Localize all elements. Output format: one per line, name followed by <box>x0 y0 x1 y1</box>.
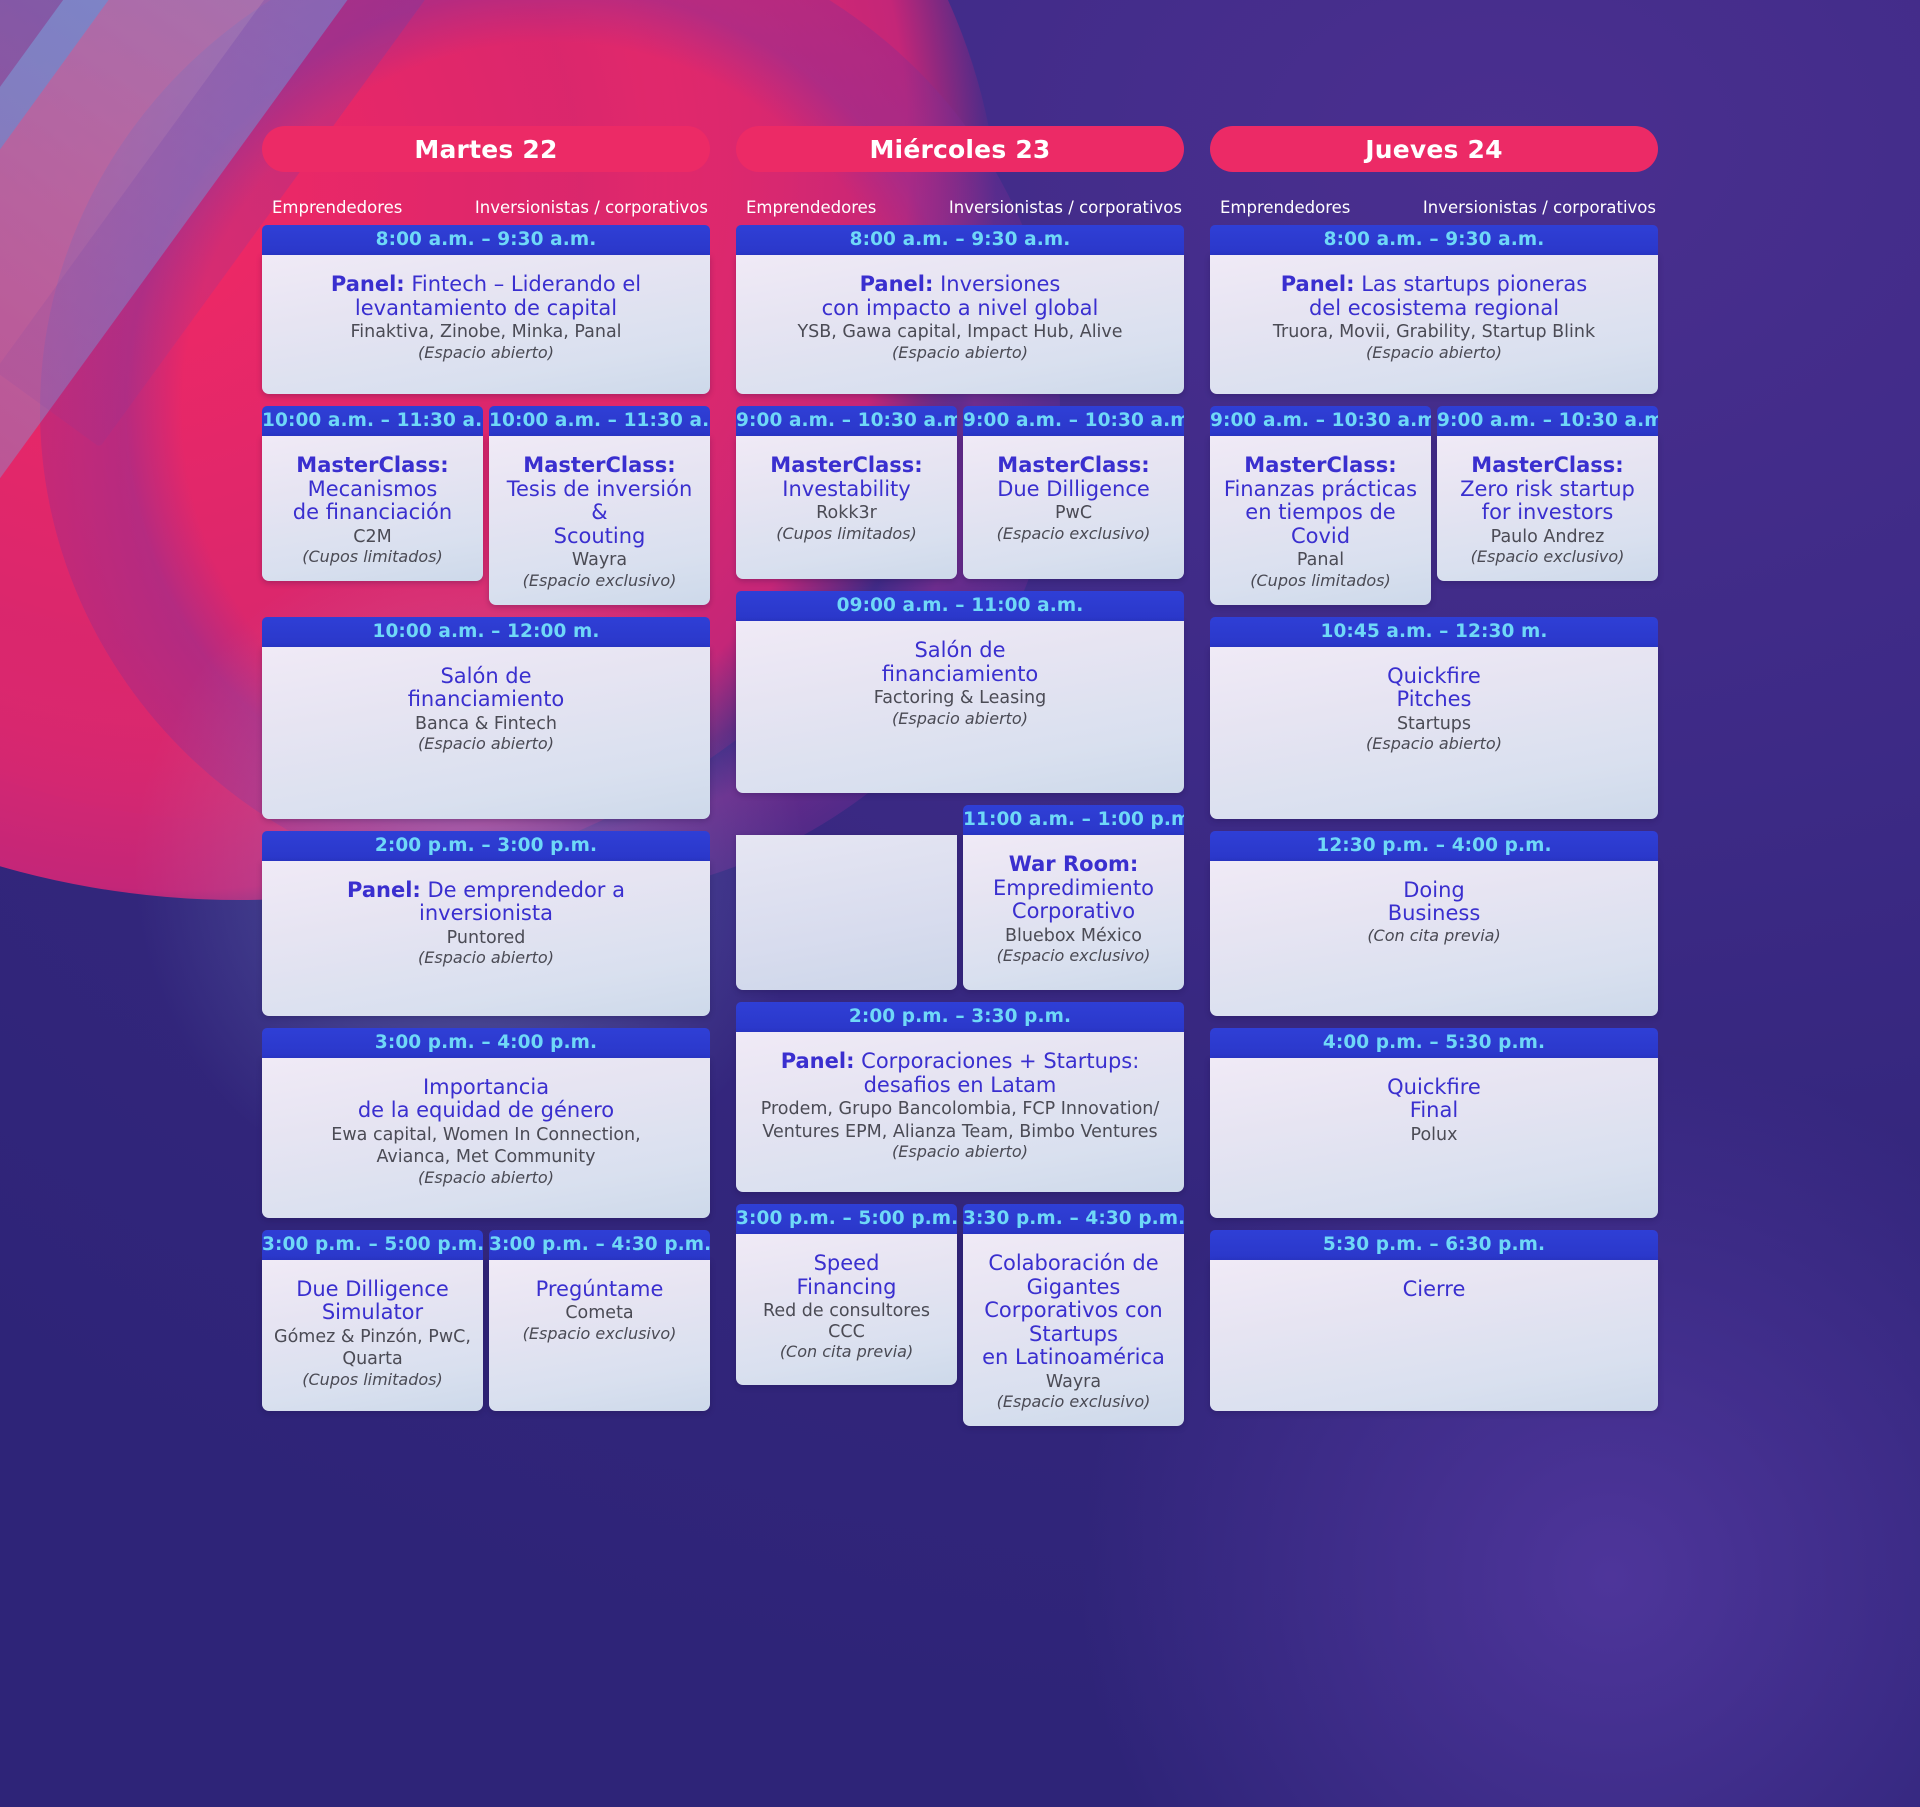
session-card[interactable]: Due DilligenceSimulatorGómez & Pinzón, P… <box>262 1260 483 1411</box>
session-access-note: (Espacio exclusivo) <box>975 1393 1172 1412</box>
day-column-3: Jueves 24EmprendedoresInversionistas / c… <box>1210 126 1658 1438</box>
session-speakers: Finaktiva, Zinobe, Minka, Panal <box>274 322 698 343</box>
time-label: 8:00 a.m. – 9:30 a.m. <box>736 225 1184 255</box>
session-access-note: (Cupos limitados) <box>748 525 945 544</box>
session-title: Cierre <box>1222 1278 1646 1302</box>
schedule-entry[interactable] <box>736 805 957 990</box>
session-access-note: (Cupos limitados) <box>274 1371 471 1390</box>
session-card[interactable]: Panel: Corporaciones + Startups:desafios… <box>736 1032 1184 1192</box>
session-title: MasterClass:Mecanismosde financiación <box>274 454 471 525</box>
session-speakers: Prodem, Grupo Bancolombia, FCP Innovatio… <box>748 1099 1172 1120</box>
schedule-entry[interactable]: 8:00 a.m. – 9:30 a.m.Panel: Inversionesc… <box>736 225 1184 394</box>
audience-label-entrepreneurs: Emprendedores <box>1212 198 1419 217</box>
schedule-entry[interactable]: 10:00 a.m. – 11:30 a.m.MasterClass:Mecan… <box>262 406 483 605</box>
session-access-note: (Con cita previa) <box>1222 927 1646 946</box>
session-speakers: Ewa capital, Women In Connection, <box>274 1125 698 1146</box>
session-title: MasterClass:Investability <box>748 454 945 501</box>
session-card[interactable]: MasterClass:Due DilligencePwC(Espacio ex… <box>963 436 1184 579</box>
time-label: 9:00 a.m. – 10:30 a.m. <box>1437 406 1658 436</box>
session-card[interactable]: SpeedFinancingRed de consultores CCC(Con… <box>736 1234 957 1385</box>
time-label: 9:00 a.m. – 10:30 a.m. <box>1210 406 1431 436</box>
time-label: 10:00 a.m. – 11:30 a.m. <box>262 406 483 436</box>
session-speakers: Bluebox México <box>975 926 1172 947</box>
session-title: MasterClass:Zero risk startupfor investo… <box>1449 454 1646 525</box>
session-card[interactable]: Panel: Fintech – Liderando ellevantamien… <box>262 255 710 394</box>
session-card[interactable]: Panel: Las startups pionerasdel ecosiste… <box>1210 255 1658 394</box>
schedule-entry[interactable]: 11:00 a.m. – 1:00 p.m.War Room:Empredimi… <box>963 805 1184 990</box>
session-card[interactable]: DoingBusiness(Con cita previa) <box>1210 861 1658 1016</box>
session-access-note: (Espacio abierto) <box>274 1169 698 1188</box>
time-label: 2:00 p.m. – 3:00 p.m. <box>262 831 710 861</box>
schedule-slot: 11:00 a.m. – 1:00 p.m.War Room:Empredimi… <box>736 805 1184 990</box>
session-speakers: YSB, Gawa capital, Impact Hub, Alive <box>748 322 1172 343</box>
schedule-entry[interactable]: 3:00 p.m. – 5:00 p.m.Due DilligenceSimul… <box>262 1230 483 1411</box>
time-label: 10:00 a.m. – 11:30 a.m. <box>489 406 710 436</box>
day-column-1: Martes 22EmprendedoresInversionistas / c… <box>262 126 710 1438</box>
session-title: Pregúntame <box>501 1278 698 1302</box>
session-access-note: (Espacio abierto) <box>274 949 698 968</box>
session-title: Salón definanciamiento <box>274 665 698 712</box>
session-speakers: Gómez & Pinzón, PwC, <box>274 1327 471 1348</box>
schedule-slot: 5:30 p.m. – 6:30 p.m.Cierre <box>1210 1230 1658 1411</box>
schedule-entry[interactable]: 3:30 p.m. – 4:30 p.m.Colaboración de Gig… <box>963 1204 1184 1426</box>
day-header-pill[interactable]: Miércoles 23 <box>736 126 1184 172</box>
session-access-note: (Espacio abierto) <box>274 344 698 363</box>
time-label: 4:00 p.m. – 5:30 p.m. <box>1210 1028 1658 1058</box>
time-label: 10:45 a.m. – 12:30 m. <box>1210 617 1658 647</box>
session-speakers: Polux <box>1222 1125 1646 1146</box>
session-access-note: (Espacio abierto) <box>748 344 1172 363</box>
time-label: 3:00 p.m. – 4:30 p.m. <box>489 1230 710 1260</box>
schedule-slot: 2:00 p.m. – 3:00 p.m.Panel: De emprended… <box>262 831 710 1016</box>
session-speakers: Paulo Andrez <box>1449 527 1646 548</box>
session-card[interactable]: PregúntameCometa(Espacio exclusivo) <box>489 1260 710 1411</box>
session-title: War Room:EmpredimientoCorporativo <box>975 853 1172 924</box>
session-access-note: (Cupos limitados) <box>1222 572 1419 591</box>
session-title: Panel: Corporaciones + Startups:desafios… <box>748 1050 1172 1097</box>
session-title: QuickfireFinal <box>1222 1076 1646 1123</box>
schedule-entry[interactable]: 3:00 p.m. – 4:00 p.m.Importanciade la eq… <box>262 1028 710 1218</box>
session-access-note: (Espacio abierto) <box>1222 735 1646 754</box>
session-title: Due DilligenceSimulator <box>274 1278 471 1325</box>
session-card[interactable]: Colaboración de GigantesCorporativos con… <box>963 1234 1184 1426</box>
session-speakers-2: Quarta <box>274 1349 471 1370</box>
schedule-entry[interactable]: 09:00 a.m. – 11:00 a.m.Salón definanciam… <box>736 591 1184 793</box>
session-card[interactable]: War Room:EmpredimientoCorporativoBluebox… <box>963 835 1184 990</box>
time-label: 8:00 a.m. – 9:30 a.m. <box>262 225 710 255</box>
session-speakers: Banca & Fintech <box>274 714 698 735</box>
session-card[interactable]: MasterClass:Mecanismosde financiaciónC2M… <box>262 436 483 581</box>
time-label: 9:00 a.m. – 10:30 a.m. <box>736 406 957 436</box>
session-card[interactable]: MasterClass:InvestabilityRokk3r(Cupos li… <box>736 436 957 579</box>
session-access-note: (Cupos limitados) <box>274 548 471 567</box>
schedule-slot: 8:00 a.m. – 9:30 a.m.Panel: Las startups… <box>1210 225 1658 394</box>
session-speakers: PwC <box>975 503 1172 524</box>
session-access-note: (Con cita previa) <box>748 1343 945 1362</box>
session-speakers-2: Avianca, Met Community <box>274 1147 698 1168</box>
session-title: SpeedFinancing <box>748 1252 945 1299</box>
schedule-entry[interactable]: 10:00 a.m. – 12:00 m.Salón definanciamie… <box>262 617 710 819</box>
session-card[interactable]: Panel: De emprendedor ainversionistaPunt… <box>262 861 710 1016</box>
schedule-slot: 8:00 a.m. – 9:30 a.m.Panel: Fintech – Li… <box>262 225 710 394</box>
time-label: 2:00 p.m. – 3:30 p.m. <box>736 1002 1184 1032</box>
audience-label-investors: Inversionistas / corporativos <box>945 198 1182 217</box>
audience-label-investors: Inversionistas / corporativos <box>1419 198 1656 217</box>
session-access-note: (Espacio abierto) <box>748 710 1172 729</box>
schedule-entry[interactable]: 9:00 a.m. – 10:30 a.m.MasterClass:Invest… <box>736 406 957 579</box>
time-label: 9:00 a.m. – 10:30 a.m. <box>963 406 1184 436</box>
session-title: MasterClass:Tesis de inversión &Scouting <box>501 454 698 548</box>
schedule-slot: 3:00 p.m. – 4:00 p.m.Importanciade la eq… <box>262 1028 710 1218</box>
audience-label-investors: Inversionistas / corporativos <box>471 198 708 217</box>
time-label: 12:30 p.m. – 4:00 p.m. <box>1210 831 1658 861</box>
schedule-entry[interactable]: 10:45 a.m. – 12:30 m.QuickfirePitchesSta… <box>1210 617 1658 819</box>
time-label: 3:30 p.m. – 4:30 p.m. <box>963 1204 1184 1234</box>
session-title: QuickfirePitches <box>1222 665 1646 712</box>
schedule-entry[interactable]: 2:00 p.m. – 3:00 p.m.Panel: De emprended… <box>262 831 710 1016</box>
session-access-note: (Espacio exclusivo) <box>975 947 1172 966</box>
session-card[interactable]: MasterClass:Finanzas prácticasen tiempos… <box>1210 436 1431 605</box>
schedule-entry[interactable]: 5:30 p.m. – 6:30 p.m.Cierre <box>1210 1230 1658 1411</box>
session-title: Colaboración de GigantesCorporativos con… <box>975 1252 1172 1370</box>
empty-slot <box>736 835 957 990</box>
session-access-note: (Espacio abierto) <box>274 735 698 754</box>
day-header-pill[interactable]: Martes 22 <box>262 126 710 172</box>
time-label: 3:00 p.m. – 5:00 p.m. <box>736 1204 957 1234</box>
session-title: Panel: Fintech – Liderando ellevantamien… <box>274 273 698 320</box>
session-access-note: (Espacio exclusivo) <box>975 525 1172 544</box>
session-speakers: Wayra <box>501 550 698 571</box>
schedule-entry[interactable]: 8:00 a.m. – 9:30 a.m.Panel: Las startups… <box>1210 225 1658 394</box>
time-label: 10:00 a.m. – 12:00 m. <box>262 617 710 647</box>
schedule-entry[interactable]: 3:00 p.m. – 4:30 p.m.PregúntameCometa(Es… <box>489 1230 710 1411</box>
time-label: 3:00 p.m. – 4:00 p.m. <box>262 1028 710 1058</box>
session-title: Panel: Inversionescon impacto a nivel gl… <box>748 273 1172 320</box>
session-access-note: (Espacio abierto) <box>1222 344 1646 363</box>
audience-label-entrepreneurs: Emprendedores <box>738 198 945 217</box>
session-speakers: Factoring & Leasing <box>748 688 1172 709</box>
session-title: MasterClass:Due Dilligence <box>975 454 1172 501</box>
session-speakers: Red de consultores CCC <box>748 1301 945 1342</box>
schedule-slot: 9:00 a.m. – 10:30 a.m.MasterClass:Invest… <box>736 406 1184 579</box>
session-card[interactable]: QuickfirePitchesStartups(Espacio abierto… <box>1210 647 1658 819</box>
schedule-slot: 10:45 a.m. – 12:30 m.QuickfirePitchesSta… <box>1210 617 1658 819</box>
session-card[interactable]: MasterClass:Zero risk startupfor investo… <box>1437 436 1658 581</box>
session-speakers: Truora, Movii, Grability, Startup Blink <box>1222 322 1646 343</box>
schedule-slot: 3:00 p.m. – 5:00 p.m.SpeedFinancingRed d… <box>736 1204 1184 1426</box>
session-title: Salón definanciamiento <box>748 639 1172 686</box>
time-label: 09:00 a.m. – 11:00 a.m. <box>736 591 1184 621</box>
session-access-note: (Espacio exclusivo) <box>501 572 698 591</box>
session-card[interactable]: Salón definanciamientoFactoring & Leasin… <box>736 621 1184 793</box>
schedule-entry[interactable]: 8:00 a.m. – 9:30 a.m.Panel: Fintech – Li… <box>262 225 710 394</box>
audience-header-row: EmprendedoresInversionistas / corporativ… <box>1210 198 1658 217</box>
day-header-pill[interactable]: Jueves 24 <box>1210 126 1658 172</box>
schedule-slot: 12:30 p.m. – 4:00 p.m.DoingBusiness(Con … <box>1210 831 1658 1016</box>
session-speakers: Wayra <box>975 1372 1172 1393</box>
schedule-slot: 3:00 p.m. – 5:00 p.m.Due DilligenceSimul… <box>262 1230 710 1411</box>
session-speakers-2: Ventures EPM, Alianza Team, Bimbo Ventur… <box>748 1122 1172 1143</box>
schedule-entry[interactable]: 9:00 a.m. – 10:30 a.m.MasterClass:Due Di… <box>963 406 1184 579</box>
schedule-entry[interactable]: 10:00 a.m. – 11:30 a.m.MasterClass:Tesis… <box>489 406 710 605</box>
session-title: Panel: De emprendedor ainversionista <box>274 879 698 926</box>
session-speakers: Puntored <box>274 928 698 949</box>
schedule-slot: 4:00 p.m. – 5:30 p.m.QuickfireFinalPolux <box>1210 1028 1658 1218</box>
schedule-entry[interactable]: 12:30 p.m. – 4:00 p.m.DoingBusiness(Con … <box>1210 831 1658 1016</box>
session-card[interactable]: QuickfireFinalPolux <box>1210 1058 1658 1218</box>
audience-label-entrepreneurs: Emprendedores <box>264 198 471 217</box>
session-title: Panel: Las startups pionerasdel ecosiste… <box>1222 273 1646 320</box>
schedule-entry[interactable]: 4:00 p.m. – 5:30 p.m.QuickfireFinalPolux <box>1210 1028 1658 1218</box>
schedule-entry[interactable]: 3:00 p.m. – 5:00 p.m.SpeedFinancingRed d… <box>736 1204 957 1426</box>
schedule-entry[interactable]: 9:00 a.m. – 10:30 a.m.MasterClass:Finanz… <box>1210 406 1431 605</box>
session-speakers: Rokk3r <box>748 503 945 524</box>
session-speakers: Panal <box>1222 550 1419 571</box>
session-speakers: C2M <box>274 527 471 548</box>
schedule-slot: 09:00 a.m. – 11:00 a.m.Salón definanciam… <box>736 591 1184 793</box>
session-card[interactable]: Panel: Inversionescon impacto a nivel gl… <box>736 255 1184 394</box>
schedule-slot: 8:00 a.m. – 9:30 a.m.Panel: Inversionesc… <box>736 225 1184 394</box>
audience-header-row: EmprendedoresInversionistas / corporativ… <box>262 198 710 217</box>
schedule-entry[interactable]: 9:00 a.m. – 10:30 a.m.MasterClass:Zero r… <box>1437 406 1658 605</box>
schedule-slot: 10:00 a.m. – 12:00 m.Salón definanciamie… <box>262 617 710 819</box>
session-title: DoingBusiness <box>1222 879 1646 926</box>
session-speakers: Cometa <box>501 1303 698 1324</box>
schedule-slot: 9:00 a.m. – 10:30 a.m.MasterClass:Finanz… <box>1210 406 1658 605</box>
session-speakers: Startups <box>1222 714 1646 735</box>
session-access-note: (Espacio abierto) <box>748 1143 1172 1162</box>
session-card[interactable]: Cierre <box>1210 1260 1658 1411</box>
session-card[interactable]: MasterClass:Tesis de inversión &Scouting… <box>489 436 710 605</box>
agenda-board: Martes 22EmprendedoresInversionistas / c… <box>0 0 1920 1438</box>
session-card[interactable]: Importanciade la equidad de géneroEwa ca… <box>262 1058 710 1218</box>
time-label: 3:00 p.m. – 5:00 p.m. <box>262 1230 483 1260</box>
audience-header-row: EmprendedoresInversionistas / corporativ… <box>736 198 1184 217</box>
schedule-slot: 2:00 p.m. – 3:30 p.m.Panel: Corporacione… <box>736 1002 1184 1192</box>
time-label: 8:00 a.m. – 9:30 a.m. <box>1210 225 1658 255</box>
time-label: 5:30 p.m. – 6:30 p.m. <box>1210 1230 1658 1260</box>
day-column-2: Miércoles 23EmprendedoresInversionistas … <box>736 126 1184 1438</box>
time-label: 11:00 a.m. – 1:00 p.m. <box>963 805 1184 835</box>
session-title: MasterClass:Finanzas prácticasen tiempos… <box>1222 454 1419 548</box>
session-access-note: (Espacio exclusivo) <box>1449 548 1646 567</box>
schedule-slot: 10:00 a.m. – 11:30 a.m.MasterClass:Mecan… <box>262 406 710 605</box>
schedule-entry[interactable]: 2:00 p.m. – 3:30 p.m.Panel: Corporacione… <box>736 1002 1184 1192</box>
session-title: Importanciade la equidad de género <box>274 1076 698 1123</box>
session-access-note: (Espacio exclusivo) <box>501 1325 698 1344</box>
session-card[interactable]: Salón definanciamientoBanca & Fintech(Es… <box>262 647 710 819</box>
